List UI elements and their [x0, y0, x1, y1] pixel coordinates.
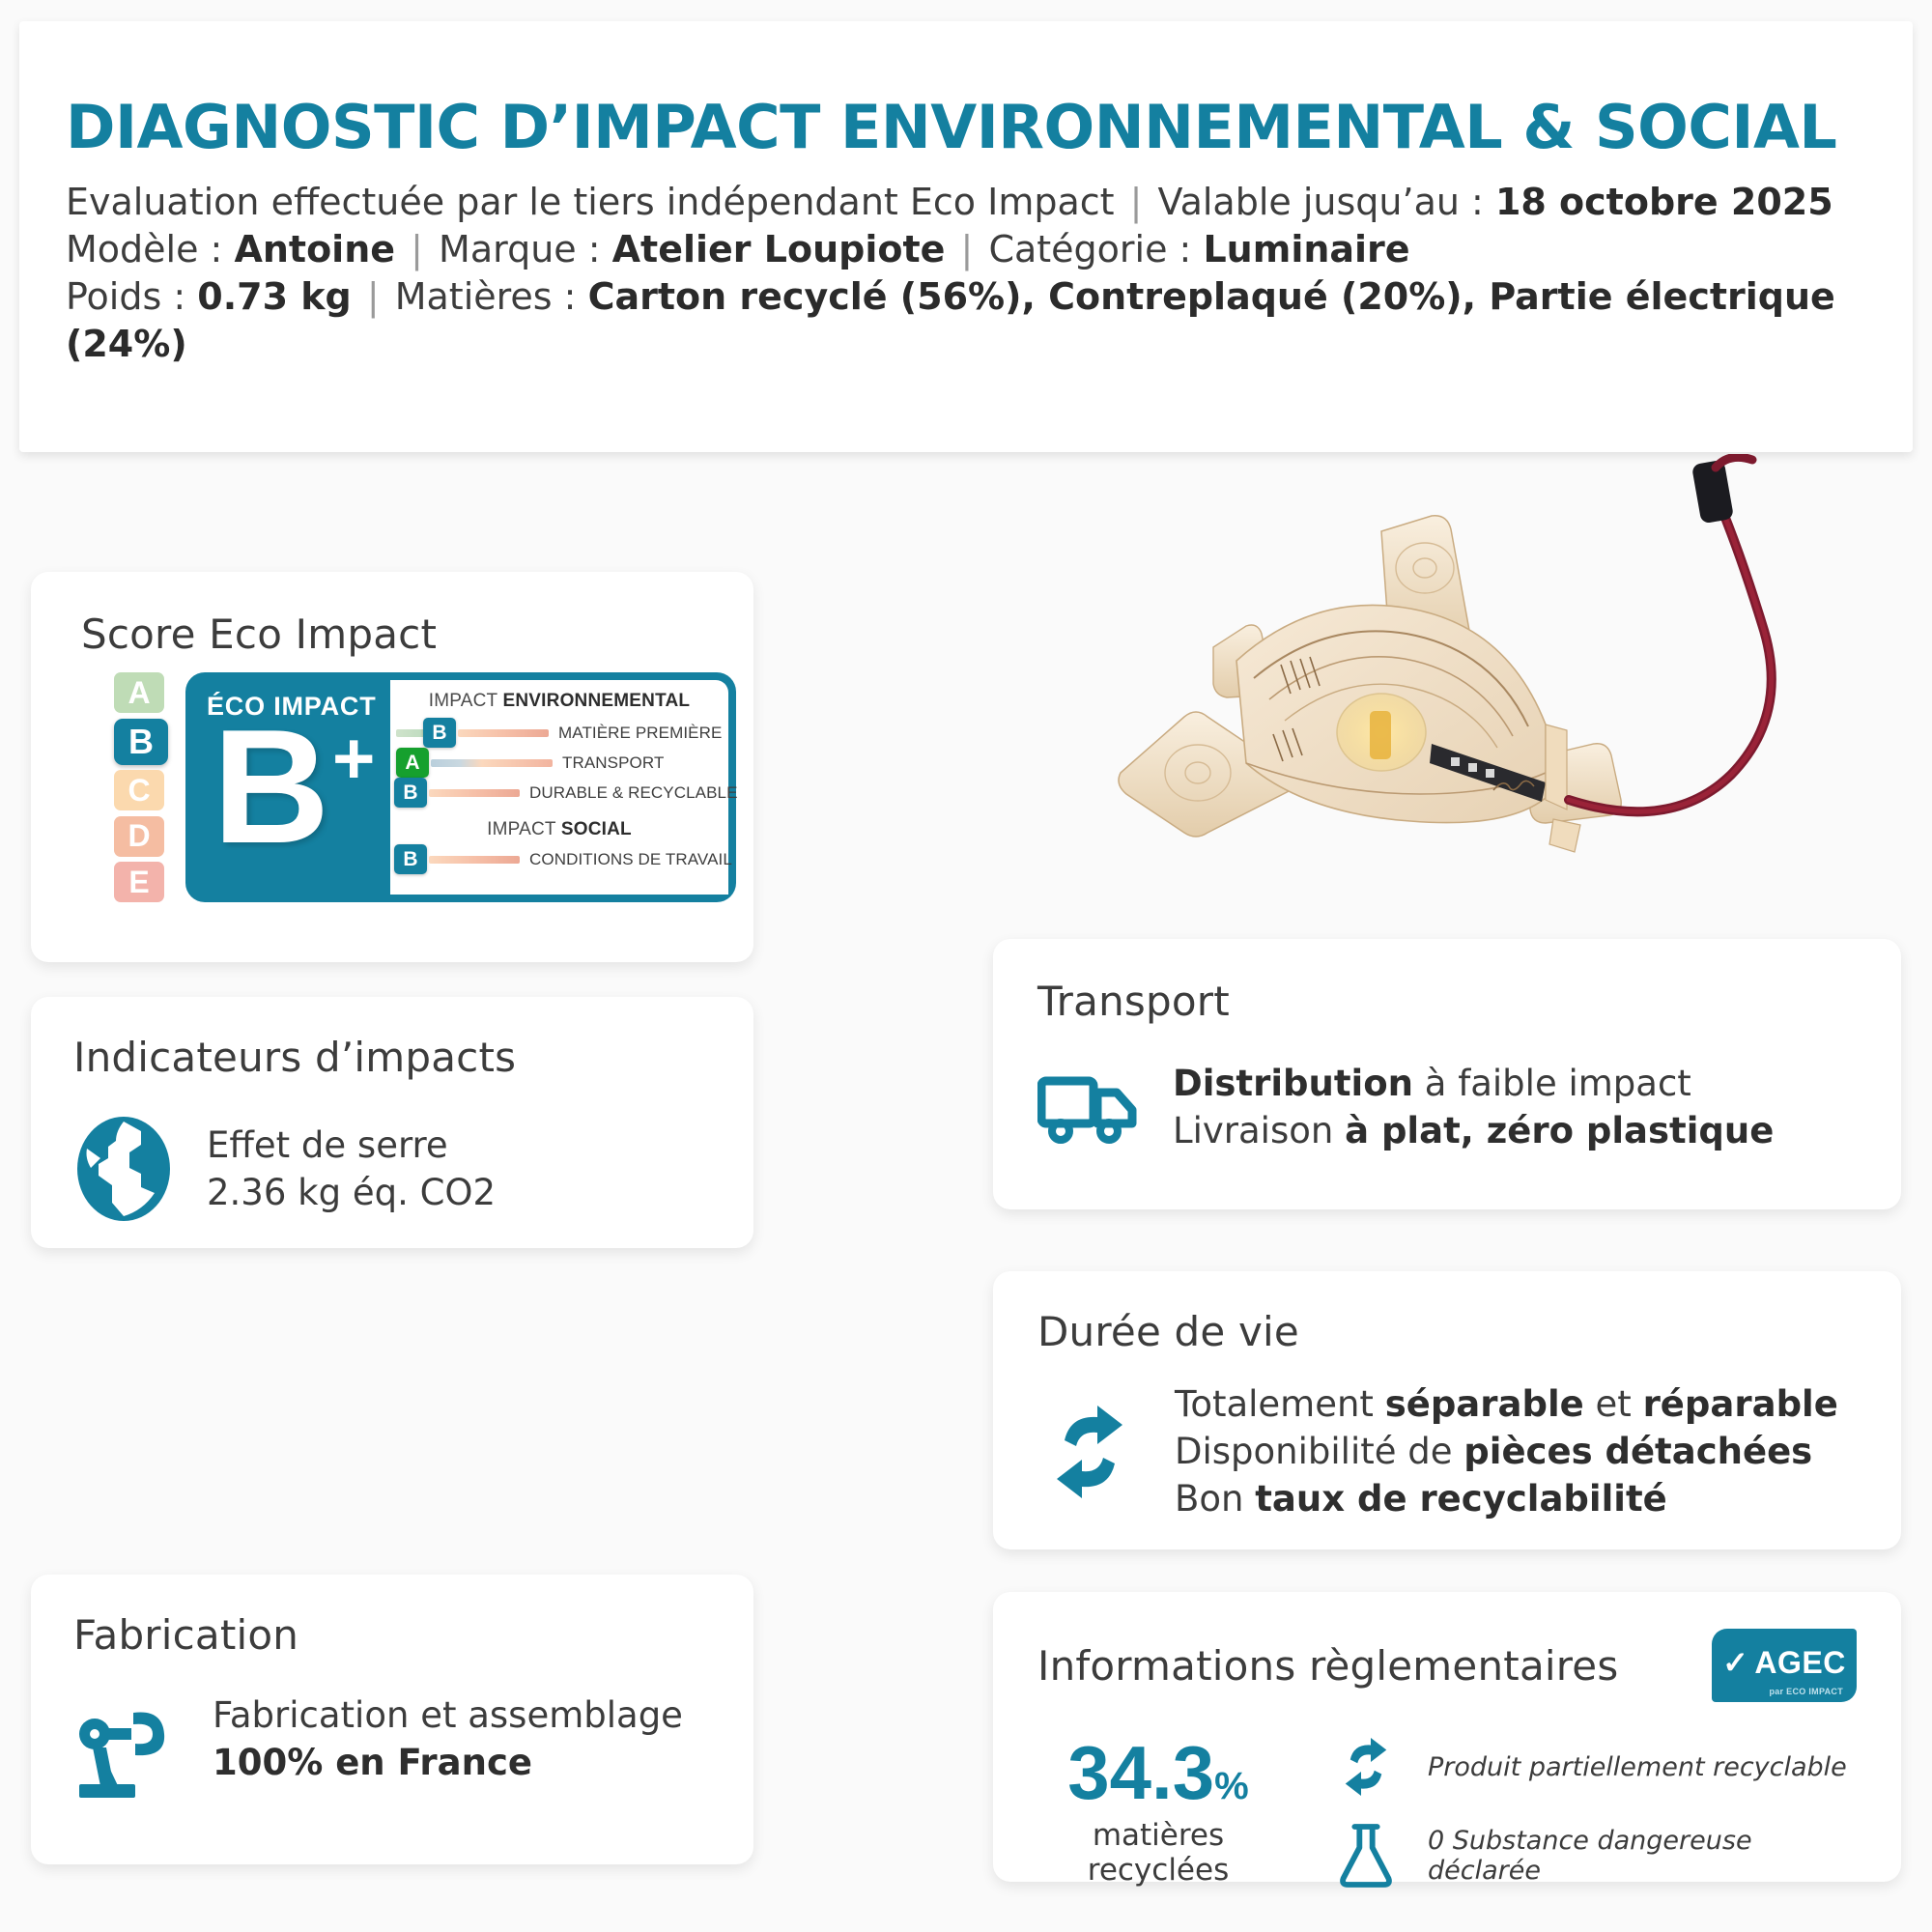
- category-value: Luminaire: [1203, 228, 1409, 270]
- duree-line-3: Bon taux de recyclabilité: [1175, 1475, 1838, 1522]
- percent-number: 34.3: [1067, 1730, 1214, 1815]
- flask-icon: [1333, 1822, 1399, 1889]
- section-header-social: IMPACT SOCIAL: [390, 819, 728, 840]
- grade-scale: A B C D E: [114, 672, 168, 902]
- separator: |: [363, 275, 384, 318]
- section-env-prefix: IMPACT: [429, 691, 503, 711]
- recycle-arrows-icon: [1333, 1733, 1399, 1801]
- duree-de-vie-card: Durée de vie Totalement séparable et rép…: [993, 1271, 1901, 1549]
- section-social-prefix: IMPACT: [487, 819, 561, 839]
- row-trail-bar: [458, 729, 549, 737]
- badge-breakdown-panel: IMPACT ENVIRONNEMENTAL B MATIÈRE PREMIÈR…: [390, 680, 728, 895]
- header-line-validity: Evaluation effectuée par le tiers indépe…: [66, 179, 1866, 226]
- badge-plate: ÉCO IMPACT B + IMPACT ENVIRONNEMENTAL B …: [185, 672, 736, 902]
- materials-label: Matières :: [395, 275, 577, 318]
- row-label: TRANSPORT: [562, 753, 664, 773]
- row-grade-badge: B: [394, 844, 427, 874]
- agec-label: AGEC: [1754, 1645, 1845, 1681]
- scale-cell-e: E: [114, 862, 164, 902]
- badge-grade-modifier: +: [332, 723, 375, 796]
- impact-row-transport: A TRANSPORT: [390, 748, 728, 778]
- eco-impact-diagnostic-page: DIAGNOSTIC D’IMPACT ENVIRONNEMENTAL & SO…: [0, 0, 1932, 1932]
- distribution-rest: à faible impact: [1413, 1063, 1691, 1104]
- badge-grade-letter: B: [213, 705, 329, 867]
- truck-icon: [1037, 1069, 1140, 1145]
- agec-main-row: ✓ AGEC: [1722, 1644, 1846, 1681]
- fabrication-card: Fabrication Fabrication et assemblage 10…: [31, 1575, 753, 1864]
- robot-arm-icon: [73, 1691, 180, 1800]
- row-grade-badge: B: [423, 718, 456, 748]
- row-trail-bar: [429, 856, 520, 864]
- duree-line-1: Totalement séparable et réparable: [1175, 1380, 1838, 1428]
- info-card-body: 34.3% matières recyclées Produit partiel…: [1037, 1733, 1857, 1889]
- distribution-bold: Distribution: [1173, 1063, 1413, 1104]
- header-card: DIAGNOSTIC D’IMPACT ENVIRONNEMENTAL & SO…: [19, 21, 1913, 452]
- row-label: CONDITIONS DE TRAVAIL: [529, 850, 732, 869]
- header-line-materials: Poids : 0.73 kg | Matières : Carton recy…: [66, 273, 1866, 368]
- globe-icon: [73, 1114, 174, 1224]
- livraison-prefix: Livraison: [1173, 1110, 1345, 1151]
- separator: |: [1126, 181, 1147, 223]
- agec-subtitle: par ECO IMPACT: [1769, 1687, 1843, 1696]
- informations-reglementaires-card: Informations règlementaires ✓ AGEC par E…: [993, 1592, 1901, 1882]
- environmental-rows: B MATIÈRE PREMIÈRE A TRANSPORT B: [390, 718, 728, 808]
- indicateurs-text: Effet de serre 2.36 kg éq. CO2: [207, 1122, 496, 1216]
- recycled-percent-value: 34.3%: [1037, 1735, 1279, 1810]
- section-header-environmental: IMPACT ENVIRONNEMENTAL: [390, 691, 728, 712]
- check-icon: ✓: [1722, 1644, 1748, 1681]
- separator: |: [957, 228, 978, 270]
- scale-cell-c: C: [114, 770, 164, 810]
- row-lead-bar: [396, 729, 425, 737]
- score-eco-impact-card: Score Eco Impact A B C D E ÉCO IMPACT B …: [31, 572, 753, 962]
- row-trail-bar: [429, 789, 520, 797]
- recycled-materials-stat: 34.3% matières recyclées: [1037, 1735, 1279, 1888]
- regulatory-row-recyclable: Produit partiellement recyclable: [1333, 1733, 1857, 1801]
- brand-label: Marque :: [439, 228, 601, 270]
- duree-l3-prefix: Bon: [1175, 1478, 1255, 1520]
- duree-l3-bold: taux de recyclabilité: [1255, 1478, 1667, 1520]
- separator: |: [407, 228, 427, 270]
- page-title: DIAGNOSTIC D’IMPACT ENVIRONNEMENTAL & SO…: [66, 97, 1866, 157]
- validity-label: Valable jusqu’au :: [1158, 181, 1484, 223]
- percent-unit: %: [1214, 1765, 1249, 1807]
- livraison-bold: à plat, zéro plastique: [1345, 1110, 1774, 1151]
- indicateurs-card-title: Indicateurs d’impacts: [73, 1034, 711, 1081]
- duree-l2-prefix: Disponibilité de: [1175, 1431, 1463, 1472]
- impact-row-conditions-de-travail: B CONDITIONS DE TRAVAIL: [390, 844, 728, 874]
- fabrication-text: Fabrication et assemblage 100% en France: [213, 1691, 711, 1786]
- model-label: Modèle :: [66, 228, 222, 270]
- badge-grade-section: ÉCO IMPACT B +: [185, 672, 390, 902]
- row-trail-bar: [431, 759, 553, 767]
- row-label: DURABLE & RECYCLABLE: [529, 783, 738, 803]
- scale-cell-b: B: [114, 719, 168, 765]
- scale-cell-d: D: [114, 816, 164, 857]
- social-rows: B CONDITIONS DE TRAVAIL: [390, 844, 728, 874]
- eco-impact-badge: A B C D E ÉCO IMPACT B + IMPACT ENVIRONN…: [114, 672, 736, 902]
- fabrication-card-title: Fabrication: [73, 1611, 711, 1659]
- recycled-percent-caption: matières recyclées: [1037, 1818, 1279, 1888]
- agec-badge: ✓ AGEC par ECO IMPACT: [1712, 1629, 1857, 1702]
- info-card-title: Informations règlementaires: [1037, 1642, 1618, 1690]
- brand-value: Atelier Loupiote: [612, 228, 946, 270]
- duree-line-2: Disponibilité de pièces détachées: [1175, 1428, 1838, 1475]
- transport-card: Transport Distribution à faible impact L…: [993, 939, 1901, 1209]
- weight-value: 0.73 kg: [197, 275, 351, 318]
- row-grade-badge: B: [394, 778, 427, 808]
- recycle-arrows-icon: [1037, 1398, 1142, 1506]
- duree-l2-bold: pièces détachées: [1463, 1431, 1812, 1472]
- transport-card-title: Transport: [1037, 978, 1857, 1025]
- score-card-title: Score Eco Impact: [81, 611, 711, 658]
- impact-row-matiere-premiere: B MATIÈRE PREMIÈRE: [390, 718, 728, 748]
- header-subtitle-block: Evaluation effectuée par le tiers indépe…: [66, 179, 1866, 368]
- regulatory-row-substances: 0 Substance dangereuse déclarée: [1333, 1822, 1857, 1889]
- duree-l1-bold2: réparable: [1643, 1383, 1838, 1425]
- scale-cell-a: A: [114, 672, 164, 713]
- duree-l1-prefix: Totalement: [1175, 1383, 1385, 1425]
- indicateurs-impacts-card: Indicateurs d’impacts Effet de serre 2.3…: [31, 997, 753, 1248]
- model-value: Antoine: [234, 228, 395, 270]
- duree-card-title: Durée de vie: [1037, 1308, 1857, 1355]
- indicateur-label: Effet de serre: [207, 1122, 496, 1169]
- duree-text: Totalement séparable et réparable Dispon…: [1175, 1380, 1838, 1523]
- regulatory-row-text: Produit partiellement recyclable: [1428, 1752, 1847, 1782]
- regulatory-row-text: 0 Substance dangereuse déclarée: [1428, 1826, 1857, 1886]
- row-grade-badge: A: [396, 748, 429, 778]
- duree-l1-bold1: séparable: [1385, 1383, 1584, 1425]
- validity-value: 18 octobre 2025: [1495, 181, 1833, 223]
- transport-line-2: Livraison à plat, zéro plastique: [1173, 1107, 1774, 1154]
- row-label: MATIÈRE PREMIÈRE: [558, 724, 722, 743]
- product-photo: [1092, 454, 1826, 860]
- duree-l1-mid: et: [1584, 1383, 1643, 1425]
- category-label: Catégorie :: [988, 228, 1191, 270]
- fabrication-prefix: Fabrication et assemblage: [213, 1694, 683, 1736]
- impact-row-durable-recyclable: B DURABLE & RECYCLABLE: [390, 778, 728, 808]
- header-line-product: Modèle : Antoine | Marque : Atelier Loup…: [66, 226, 1866, 273]
- weight-label: Poids :: [66, 275, 185, 318]
- regulatory-rows: Produit partiellement recyclable 0 Subst…: [1333, 1733, 1857, 1889]
- indicateur-value: 2.36 kg éq. CO2: [207, 1169, 496, 1216]
- section-social-bold: SOCIAL: [561, 819, 632, 839]
- fabrication-bold: 100% en France: [213, 1742, 532, 1783]
- evaluator-text: Evaluation effectuée par le tiers indépe…: [66, 181, 1115, 223]
- transport-line-1: Distribution à faible impact: [1173, 1060, 1774, 1107]
- info-card-header: Informations règlementaires ✓ AGEC par E…: [1037, 1629, 1857, 1702]
- section-env-bold: ENVIRONNEMENTAL: [503, 691, 691, 711]
- transport-text: Distribution à faible impact Livraison à…: [1173, 1060, 1774, 1154]
